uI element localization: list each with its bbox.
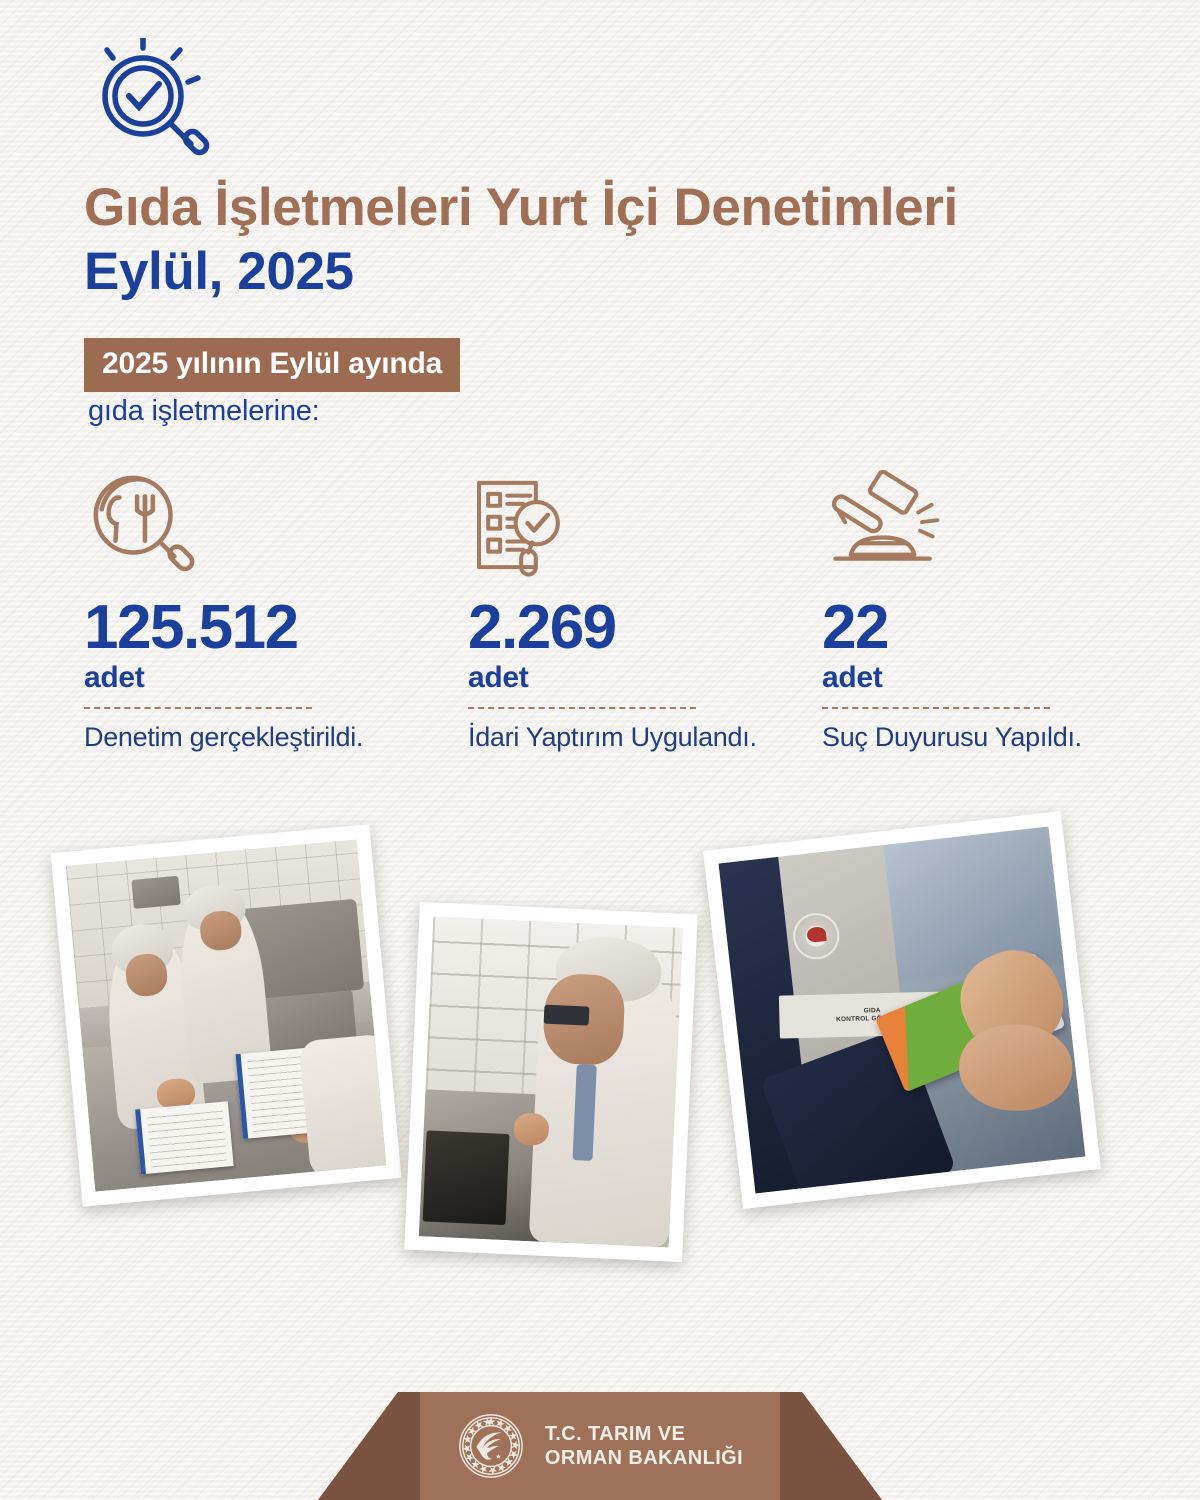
stat-divider [468, 707, 696, 709]
title-line-1: Gıda İşletmeleri Yurt İçi Denetimleri [84, 178, 1164, 238]
ministry-name: T.C. TARIM VE ORMAN BAKANLIĞI [545, 1422, 743, 1471]
photo-collage: GIDA KONTROL GÖREVLİSİ [0, 826, 1200, 1286]
checklist-magnifier-icon [468, 470, 798, 580]
ministry-emblem-icon [457, 1412, 525, 1480]
stat-description: İdari Yaptırım Uygulandı. [468, 721, 798, 755]
magnifier-check-icon [88, 38, 218, 168]
magnifier-cutlery-icon [84, 470, 414, 580]
infographic-page: Gıda İşletmeleri Yurt İçi Denetimleri Ey… [0, 0, 1200, 1500]
photo-officer-product: GIDA KONTROL GÖREVLİSİ [703, 811, 1101, 1209]
photo-inspectors-documents [51, 824, 402, 1207]
stat-value: 2.269 [468, 598, 798, 659]
stat-divider [84, 707, 312, 709]
title-line-2: Eylül, 2025 [84, 242, 1164, 302]
footer-banner: T.C. TARIM VE ORMAN BAKANLIĞI [0, 1392, 1200, 1500]
stat-card-denetim: 125.512 adet Denetim gerçekleştirildi. [84, 470, 414, 755]
stat-unit: adet [822, 663, 1152, 693]
ministry-line-2: ORMAN BAKANLIĞI [545, 1446, 743, 1470]
stat-value: 22 [822, 598, 1152, 659]
period-band-subtext: gıda işletmelerine: [88, 395, 320, 428]
stat-unit: adet [84, 663, 414, 693]
ministry-line-1: T.C. TARIM VE [545, 1422, 743, 1446]
stat-description: Suç Duyurusu Yapıldı. [822, 721, 1152, 755]
stat-card-idari-yaptirim: 2.269 adet İdari Yaptırım Uygulandı. [468, 470, 798, 755]
page-title: Gıda İşletmeleri Yurt İçi Denetimleri Ey… [84, 178, 1164, 303]
stat-card-suc-duyurusu: 22 adet Suç Duyurusu Yapıldı. [822, 470, 1152, 755]
period-band: 2025 yılının Eylül ayında [84, 338, 460, 392]
stat-divider [822, 707, 1050, 709]
stat-description: Denetim gerçekleştirildi. [84, 721, 414, 755]
stat-value: 125.512 [84, 598, 414, 659]
gavel-icon [822, 470, 1152, 580]
stat-unit: adet [468, 663, 798, 693]
stats-row: 125.512 adet Denetim gerçekleştirildi. [0, 470, 1200, 830]
photo-inspector-fryer [404, 902, 698, 1262]
